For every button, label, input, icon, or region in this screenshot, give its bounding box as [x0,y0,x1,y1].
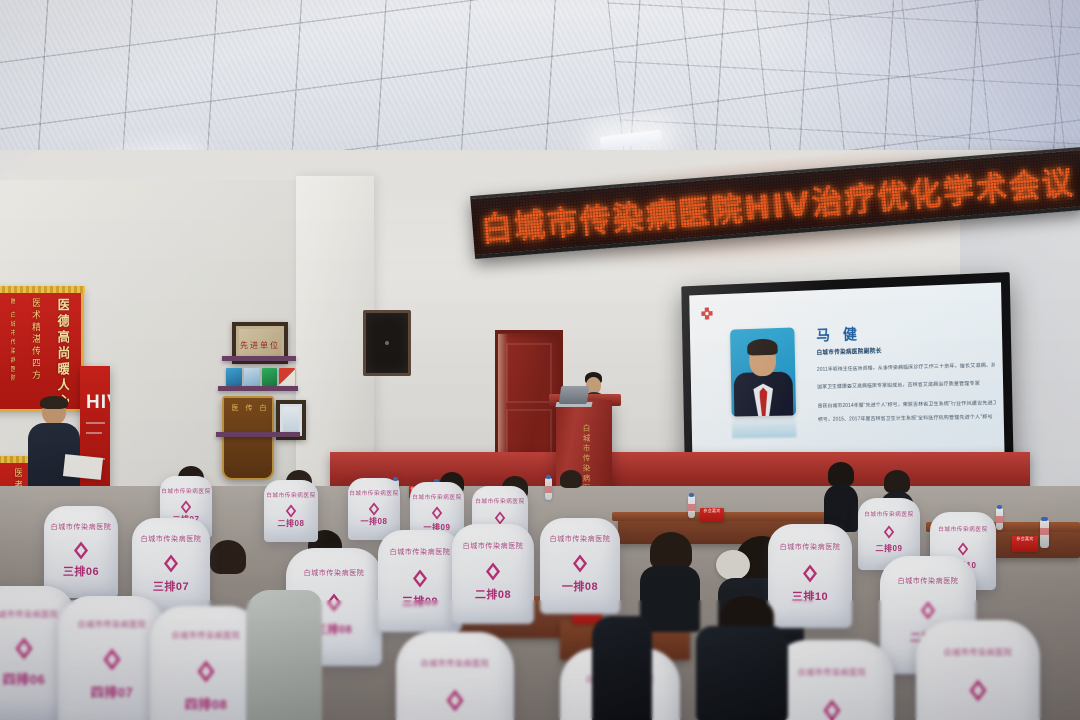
chair-cover-text: 白城市传染病医院 [550,534,611,544]
plaque-text: 先进单位 [236,340,284,351]
rollup-headline: HIV [86,392,110,414]
chair-seat-13[interactable]: 白城市传染病医院 一排08 [540,518,620,614]
attendee-7 [206,540,250,596]
display-shelf-2 [218,386,298,391]
chair-cover-text: 白城市传染病医院 [463,541,524,551]
hospital-logo-icon [444,689,467,712]
slide-bio-line-2: 国家卫生健康委艾滋病临床专家组成员，吉林省艾滋病治疗质量管理专家 [817,380,995,390]
hospital-logo-icon [430,506,444,520]
chair-cover-text: 白城市传染病医院 [864,510,914,518]
portrait-hair [747,339,778,356]
wall-speaker-icon [363,310,411,376]
foreground-torso [246,590,322,720]
bottle-cap [1041,517,1048,521]
hospital-logo-icon [411,569,430,588]
chair-cover-text: 白城市传染病医院 [944,647,1013,658]
foreground-attendee-3 [246,590,322,720]
chair-seat-number: 三排07 [153,578,189,594]
chair-cover-text: 白城市传染病医院 [780,542,841,552]
attendee-11 [560,470,582,500]
foreground-attendee-1 [592,616,652,720]
wood-plaque-col: 白 [257,404,267,472]
attendee-5 [824,462,858,532]
display-shelf-1 [222,356,296,361]
attendee-hair [884,470,910,493]
slide-bio-line-1: 2011年取得主任医师资格，从事传染病临床诊疗工作三十余年，擅长艾滋病、肝病诊治 [817,362,995,373]
table-name-card-3: 参会嘉宾 [700,508,724,522]
chair-seat-number: 三排10 [792,588,828,604]
hospital-logo-icon [882,525,896,539]
chair-cover-text: 白城市传染病医院 [412,493,462,501]
display-item-1 [226,368,242,386]
chair-cover-text: 白城市传染病医院 [475,497,525,505]
display-item-4 [279,368,295,386]
chair-cover-text: 白城市传染病医院 [266,491,316,499]
chair-cover-text: 白城市传染病医院 [161,487,211,495]
hospital-logo-icon [484,562,503,581]
chair-seat-number: 四排06 [3,669,45,688]
wood-plaque-col-2: 传 [243,404,253,472]
hospital-logo-icon [367,502,381,516]
chair-seat-11[interactable]: 白城市传染病医院 三排09 [378,530,462,632]
rollup-rule-2 [86,432,102,434]
chair-cover-text: 白城市传染病医院 [390,547,451,557]
chair-seat-19[interactable]: 白城市传染病医院 四排09 [396,632,514,720]
honor-banner-1: 医德高尚暖人心 医术精湛传四方 赠 白城市传染病医院 [0,288,84,412]
hospital-logo-icon [162,554,181,573]
hospital-logo-icon [325,593,344,612]
hospital-logo-icon [956,542,970,556]
chair-seat-21[interactable]: 白城市传染病医院 一排10 [770,640,894,720]
hospital-logo-icon [179,500,193,514]
hospital-logo-icon [571,554,590,573]
water-bottle-4 [688,496,695,518]
certificate-inner [283,407,299,433]
hospital-cross-icon [700,306,714,322]
water-bottle-6 [1040,520,1049,548]
attendee-hair-clip [716,550,750,580]
slide-bio-line-3: 曾获白城市2014年度“先进个人”称号，荣获吉林省卫生系统“行业作风建设先进工作… [818,400,996,410]
honor-banner-1-headline: 赠 白城市传染病医院 [9,298,16,402]
chair-cover-text: 白城市传染病医院 [172,630,241,641]
chair-seat-number: 二排08 [475,586,511,602]
chair-seat-number: 三排06 [63,563,99,579]
bottle-label [688,504,695,511]
hospital-logo-icon [821,699,844,720]
slide-speaker-name: 马 健 [816,323,862,345]
bottle-label [1040,528,1049,535]
conference-hall-photo: 医德高尚暖人心 医术精湛传四方 赠 白城市传染病医院 妙手回春 医者仁心 先进单… [0,0,1080,720]
chair-seat-5[interactable]: 白城市传染病医院 二排08 [264,480,318,542]
hospital-logo-icon [493,511,507,525]
chair-seat-number: 四排07 [91,682,133,701]
display-item-3 [262,368,277,386]
chair-cover-text: 白城市传染病医院 [349,489,399,497]
hospital-logo-icon [801,564,820,583]
chair-cover-text: 白城市传染病医院 [798,667,867,678]
speaker-portrait-photo [730,327,796,416]
foreground-torso [592,616,652,720]
wood-plaque-col-3: 医 [229,404,239,472]
display-shelf-3 [216,432,300,437]
hospital-logo-icon [967,679,990,702]
chair-cover-text: 白城市传染病医院 [898,576,959,586]
chair-seat-12[interactable]: 白城市传染病医院 二排08 [452,524,534,624]
wooden-name-plaque: 白 传 医 [222,396,274,480]
hospital-logo-icon [72,541,91,560]
water-bottle-3 [545,478,552,500]
left-attendee-paper [63,454,103,480]
foreground-torso [696,626,788,720]
chair-cover-text: 白城市传染病医院 [938,525,988,533]
water-bottle-5 [996,508,1003,530]
chair-seat-number: 二排08 [278,518,305,529]
chair-seat-number: 一排08 [361,516,388,527]
chair-cover-text: 白城市传染病医院 [0,609,58,620]
honor-banner-1-col-2: 医术精湛传四方 [30,298,40,402]
chair-seat-8[interactable]: 白城市传染病医院 三排06 [44,506,118,598]
hospital-logo-icon [284,504,298,518]
chair-seat-number: 四排08 [185,694,227,713]
table-name-card-5: 参会嘉宾 [1012,536,1038,552]
chair-seat-number: 三排09 [402,593,438,609]
bottle-cap [997,505,1002,509]
left-attendee-hair [40,396,68,409]
hospital-logo-icon [101,648,124,671]
attendee-hair [828,462,854,486]
bottle-label [996,516,1003,523]
door-panel-upper [506,343,552,403]
display-item-2 [244,368,260,386]
chair-cover-text: 白城市传染病医院 [141,534,202,544]
foreground-attendee-2 [696,596,788,720]
hospital-logo-icon [13,637,36,660]
hospital-logo-icon [919,601,938,620]
chair-cover-text: 白城市传染病医院 [304,568,365,578]
chair-cover-text: 白城市传染病医院 [51,522,112,532]
attendee-hair [560,470,582,488]
bottle-cap [546,475,551,479]
banner-fringe [0,286,85,293]
chair-back [916,620,1040,720]
portrait-reflection [732,416,797,438]
attendee-hair [650,532,692,570]
name-card-text: 参会嘉宾 [700,508,724,522]
slide-speaker-title: 白城市传染病医院副院长 [817,346,882,357]
name-card-text: 参会嘉宾 [1012,536,1038,552]
chair-seat-number: 二排09 [876,543,903,554]
chair-seat-22[interactable]: 白城市传染病医院 四排09 [916,620,1040,720]
chair-seat-number: 一排08 [562,578,598,594]
rollup-rule-1 [86,422,105,424]
attendee-hair [210,540,246,574]
laptop-screen [559,386,590,404]
bottle-cap [689,493,694,497]
bottle-label [545,486,552,493]
hospital-logo-icon [195,660,218,683]
chair-cover-text: 白城市传染病医院 [78,619,147,630]
honor-banner-1-col-1: 医德高尚暖人心 [55,298,69,402]
slide-bio-line-4: 称号，2015、2017年度吉林省卫生计生系统“全科医疗机构管理先进个人”称号 [818,414,996,423]
chair-cover-text: 白城市传染病医院 [421,658,490,669]
